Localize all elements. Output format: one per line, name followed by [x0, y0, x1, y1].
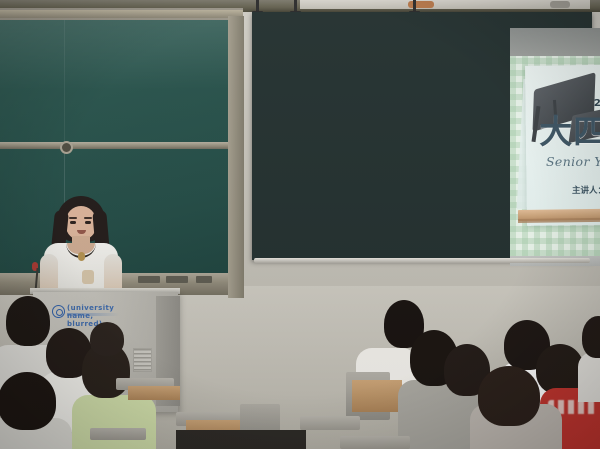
- projector-screen: 24级机电+电气专业新学期第一次晚点名 大四启航·决胜未来 Senior Yea…: [252, 12, 592, 260]
- student-head: [478, 366, 540, 426]
- presenter-brow: [69, 217, 77, 219]
- slide-subtitle-top: 24级机电+电气专业新学期第一次晚点名: [532, 94, 600, 109]
- presenter-eye: [70, 221, 76, 224]
- slide-english-subtitle: Senior Year Launch: Winning the Future: [526, 154, 600, 169]
- presentation-slide: 24级机电+电气专业新学期第一次晚点名 大四启航·决胜未来 Senior Yea…: [510, 56, 600, 256]
- student-body: [578, 352, 600, 402]
- chalkboard-rail-knob: [60, 141, 73, 154]
- chalkboard-top-strip: [0, 10, 243, 18]
- presenter-shirt-graphic: [82, 270, 94, 284]
- university-seal-icon: [52, 305, 65, 318]
- desk-surface: [352, 380, 402, 412]
- desk: [300, 416, 360, 430]
- desk: [340, 436, 410, 449]
- desk-surface: [128, 386, 180, 400]
- presenter-pendant: [78, 252, 85, 261]
- student-head: [6, 296, 50, 346]
- slide-main-title: 大四启航·决胜未来: [526, 114, 600, 150]
- lectern-vent: [133, 348, 152, 372]
- classroom-photo: 24级机电+电气专业新学期第一次晚点名 大四启航·决胜未来 Senior Yea…: [0, 0, 600, 449]
- screen-top-band: [510, 28, 600, 56]
- student-body: [72, 395, 156, 449]
- slide-speaker: 主讲人：李思: [572, 184, 600, 196]
- university-crest: (university name, blurred): [52, 302, 126, 320]
- eraser: [196, 276, 212, 283]
- presenter-brow: [84, 217, 92, 219]
- chalkboard-glare: [0, 20, 236, 90]
- student-head: [0, 372, 56, 430]
- student-head: [536, 344, 584, 394]
- screen-bottom-bar: [254, 258, 590, 263]
- desk: [90, 428, 146, 440]
- chalkboard-middle-rail: [0, 142, 238, 149]
- projector-screen-surface: 24级机电+电气专业新学期第一次晚点名 大四启航·决胜未来 Senior Yea…: [510, 28, 600, 266]
- university-name-pinyin: [67, 313, 119, 316]
- student-head: [90, 322, 124, 356]
- chalkboard-right-post: [228, 16, 244, 298]
- eraser: [138, 276, 160, 283]
- shadow-area: [176, 430, 306, 449]
- presenter-eye: [85, 221, 91, 224]
- eraser: [166, 276, 188, 283]
